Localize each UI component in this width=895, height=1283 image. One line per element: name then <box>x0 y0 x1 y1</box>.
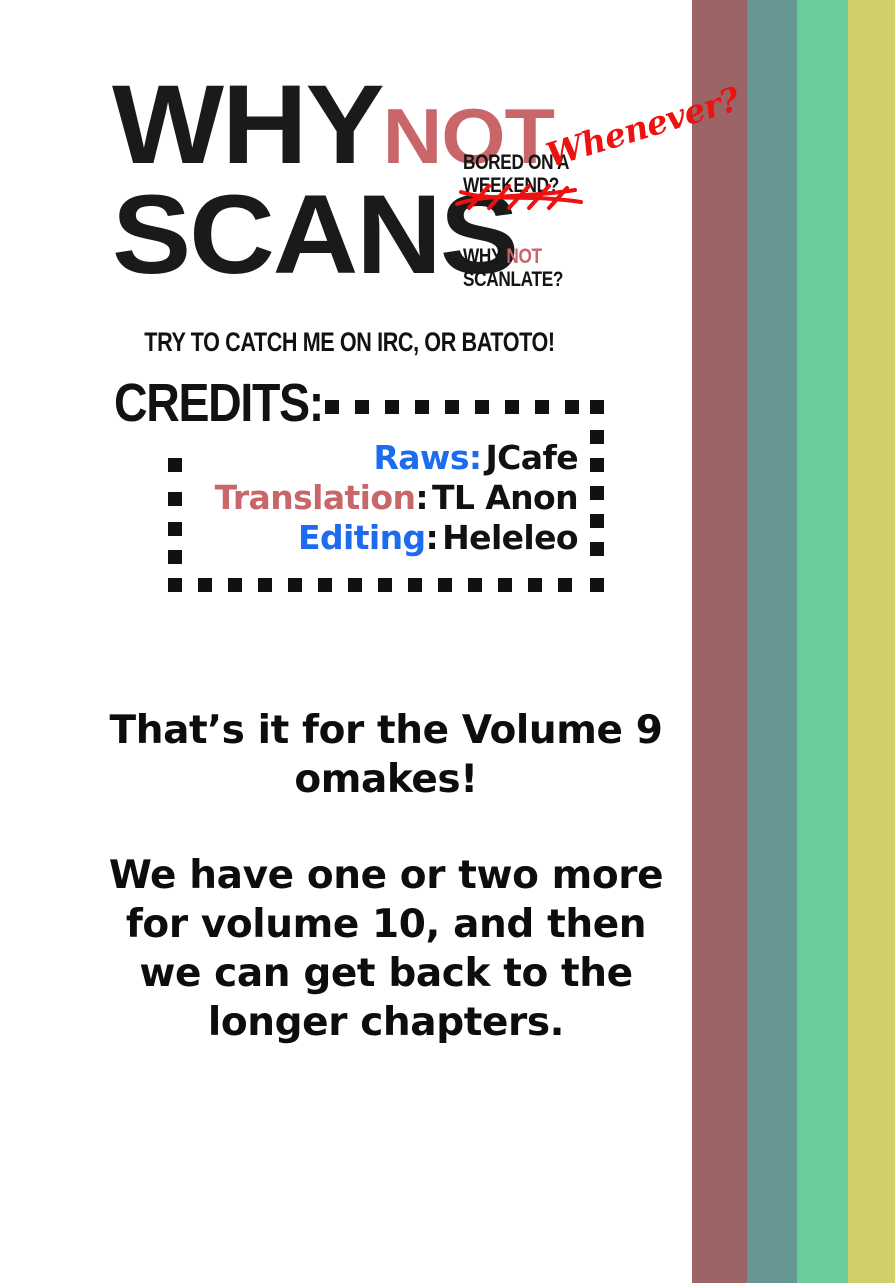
stripe-teal <box>747 0 797 1283</box>
tagline-bored-line2: WEEKEND? <box>463 174 559 197</box>
note-paragraph-2: We have one or two more for volume 10, a… <box>96 851 676 1048</box>
stripe-yellow <box>848 0 895 1283</box>
credits-role-editing: Editing <box>298 518 425 557</box>
stripe-green <box>797 0 848 1283</box>
credits-row-translation: Translation:TL Anon <box>180 478 578 518</box>
contact-irc-line: TRY TO CATCH ME ON IRC, OR BATOTO! <box>0 327 700 358</box>
note-paragraph-1: That’s it for the Volume 9 omakes! <box>96 706 676 804</box>
color-stripe-band <box>692 0 895 1283</box>
tagline-not-word: NOT <box>506 245 541 268</box>
tagline-scanlate-word: SCANLATE? <box>463 268 563 291</box>
comic-credits-page: WHYNOT SCANS BORED ON A WEEKEND? Wheneve… <box>0 0 895 1283</box>
logo-line-scans: SCANS <box>112 188 517 282</box>
credits-name-raws: JCafe <box>481 438 578 477</box>
credits-role-translation: Translation <box>215 478 416 517</box>
credits-list: Raws:JCafe Translation:TL Anon Editing:H… <box>180 438 578 558</box>
tagline-why-word: WHY <box>463 245 506 268</box>
translator-note: That’s it for the Volume 9 omakes! We ha… <box>96 706 676 1048</box>
tagline-why-not-scanlate: WHY NOT SCANLATE? <box>463 246 563 291</box>
logo-word-why: WHY <box>112 62 383 187</box>
credits-row-editing: Editing:Heleleo <box>180 518 578 558</box>
credits-row-raws: Raws:JCafe <box>180 438 578 478</box>
credits-name-translation: TL Anon <box>428 478 578 517</box>
tagline-weekend-struck: WEEKEND? <box>463 175 559 198</box>
credits-separator-translation: : <box>415 478 428 517</box>
credits-role-raws: Raws <box>373 438 468 477</box>
contact-irc-text: TRY TO CATCH ME ON IRC, OR BATOTO! <box>145 327 555 358</box>
credits-separator-raws: : <box>469 438 482 477</box>
credits-separator-editing: : <box>426 518 439 557</box>
credits-name-editing: Heleleo <box>438 518 578 557</box>
